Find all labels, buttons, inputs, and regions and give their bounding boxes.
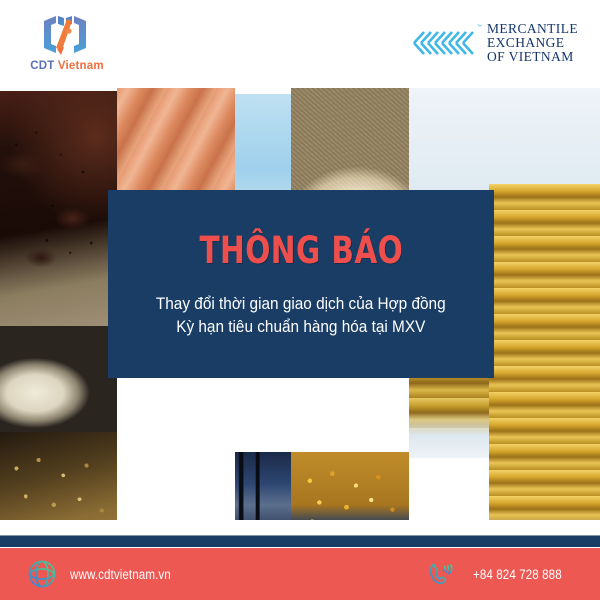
announcement-subtitle: Thay đổi thời gian giao dịch của Hợp đồn… xyxy=(156,293,446,339)
announcement-subtitle-line2: Kỳ hạn tiêu chuẩn hàng hóa tại MXV xyxy=(156,316,446,339)
cdt-wordmark-first: CDT xyxy=(30,60,54,72)
trademark-symbol: ™ xyxy=(477,24,482,30)
mxv-text-line1: MERCANTILE xyxy=(487,22,578,36)
globe-icon xyxy=(26,558,58,590)
cdt-logo-wordmark: CDT Vietnam xyxy=(28,60,106,72)
announcement-box: THÔNG BÁO Thay đổi thời gian giao dịch c… xyxy=(108,190,494,378)
collage-tile-coffee-beans xyxy=(0,91,117,336)
mxv-logo-text: MERCANTILE EXCHANGE OF VIETNAM xyxy=(487,22,578,65)
collage-tile-copper-pipes-dark xyxy=(117,452,235,520)
footer-phone[interactable]: +84 824 728 888 xyxy=(425,558,576,590)
page-header: CDT Vietnam ™ MERCANTILE EXCHANGE xyxy=(0,0,600,88)
cdt-logo-mark xyxy=(34,14,96,58)
mxv-chevron-icon: ™ xyxy=(410,26,478,60)
footer-accent-strip xyxy=(0,535,600,547)
phone-ringing-icon xyxy=(425,558,457,590)
footer-phone-text: +84 824 728 888 xyxy=(473,567,562,582)
collage-tile-flour-bowl xyxy=(0,326,117,434)
page-footer: www.cdtvietnam.vn +84 824 728 888 xyxy=(0,548,600,600)
announcement-subtitle-line1: Thay đổi thời gian giao dịch của Hợp đồn… xyxy=(156,293,446,316)
collage-tile-gold-coins xyxy=(489,184,600,520)
collage-tile-oil-rig xyxy=(235,452,291,520)
collage-tile-corn-kernels xyxy=(291,452,409,520)
cdt-wordmark-second: Vietnam xyxy=(58,60,104,72)
footer-website-text: www.cdtvietnam.vn xyxy=(70,567,171,582)
mxv-logo[interactable]: ™ MERCANTILE EXCHANGE OF VIETNAM xyxy=(410,18,578,68)
mxv-text-line2: EXCHANGE xyxy=(487,36,578,50)
mxv-text-line3: OF VIETNAM xyxy=(487,50,578,64)
collage-tile-soybeans xyxy=(0,432,117,520)
cdt-vietnam-logo[interactable]: CDT Vietnam xyxy=(28,14,106,78)
footer-website[interactable]: www.cdtvietnam.vn xyxy=(26,558,187,590)
announcement-title: THÔNG BÁO xyxy=(199,232,403,269)
